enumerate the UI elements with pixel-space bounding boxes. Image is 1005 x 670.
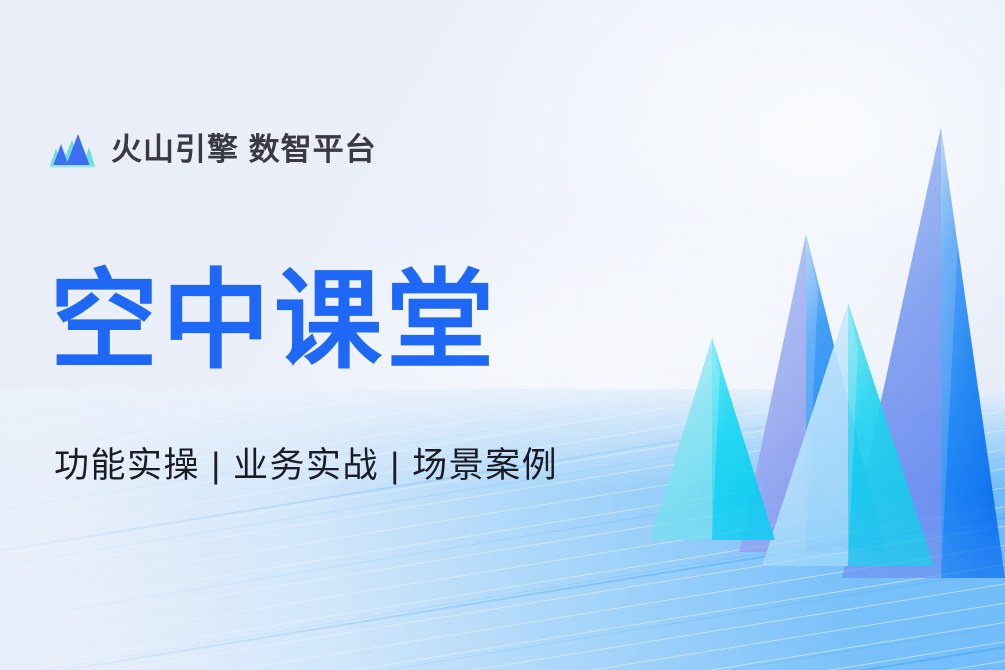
brand-lockup: 火山引擎 数智平台 (47, 126, 377, 172)
brand-name: 火山引擎 数智平台 (111, 134, 377, 165)
hero-subtitle: 功能实操 | 业务实战 | 场景案例 (54, 444, 558, 488)
volcano-mountain-logo-icon (47, 126, 97, 172)
hero-content: 火山引擎 数智平台 空中课堂 功能实操 | 业务实战 | 场景案例 (0, 0, 600, 670)
promo-banner: 火山引擎 数智平台 空中课堂 功能实操 | 业务实战 | 场景案例 (0, 0, 1005, 670)
hero-title: 空中课堂 (50, 262, 498, 381)
